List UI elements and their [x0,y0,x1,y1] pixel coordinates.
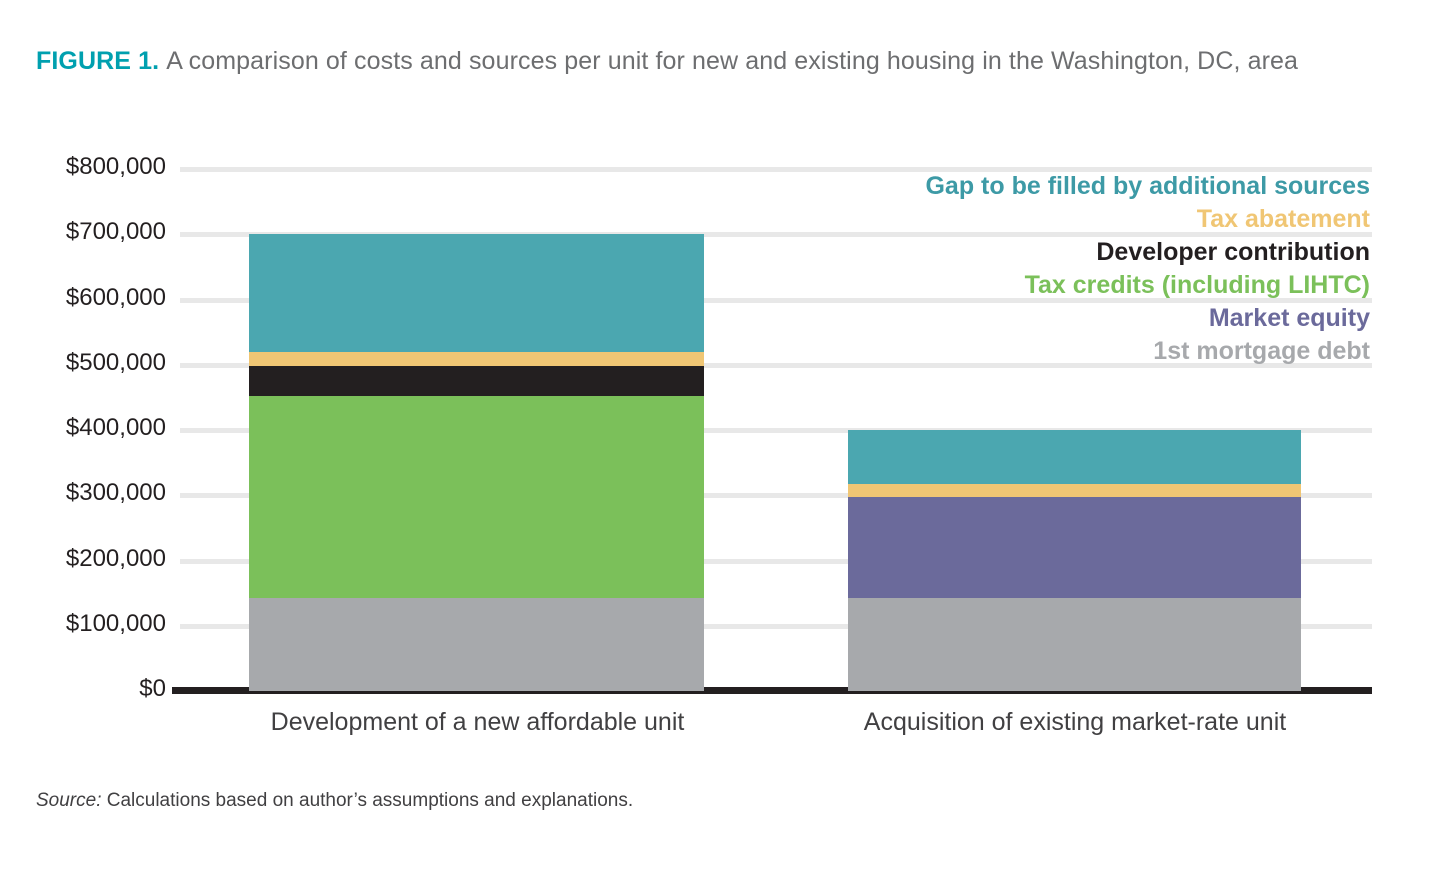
bar-segment [848,598,1301,691]
x-axis-category-label: Acquisition of existing market-rate unit [775,708,1375,737]
legend-item: Tax abatement [750,203,1370,236]
bar-segment [848,497,1301,598]
bar-segment [249,598,704,691]
y-axis-tick-label: $400,000 [16,414,166,442]
legend-item: 1st mortgage debt [750,335,1370,368]
legend-item: Developer contribution [750,236,1370,269]
bar-column [249,169,704,691]
source-note: Source: Calculations based on author’s a… [36,790,633,812]
x-axis-category-label: Development of a new affordable unit [180,708,775,737]
legend-item: Tax credits (including LIHTC) [750,269,1370,302]
stacked-bar-chart: $800,000$700,000$600,000$500,000$400,000… [0,0,1440,888]
y-axis-tick-label: $600,000 [16,284,166,312]
y-axis-tick-label: $500,000 [16,349,166,377]
y-axis-tick-label: $0 [16,675,166,703]
y-axis-tick-label: $300,000 [16,479,166,507]
legend-item: Market equity [750,302,1370,335]
bar-segment [249,352,704,366]
legend-item: Gap to be filled by additional sources [750,170,1370,203]
source-label: Source: [36,790,101,811]
bar-segment [249,366,704,396]
chart-legend: Gap to be filled by additional sourcesTa… [750,170,1370,368]
y-axis-tick-label: $800,000 [16,153,166,181]
bar-segment [249,234,704,352]
bar-segment [848,484,1301,498]
source-text: Calculations based on author’s assumptio… [101,790,633,811]
y-axis-tick-label: $200,000 [16,545,166,573]
bar-segment [848,430,1301,484]
y-axis-tick-label: $100,000 [16,610,166,638]
bar-segment [249,396,704,598]
y-axis-tick-label: $700,000 [16,218,166,246]
